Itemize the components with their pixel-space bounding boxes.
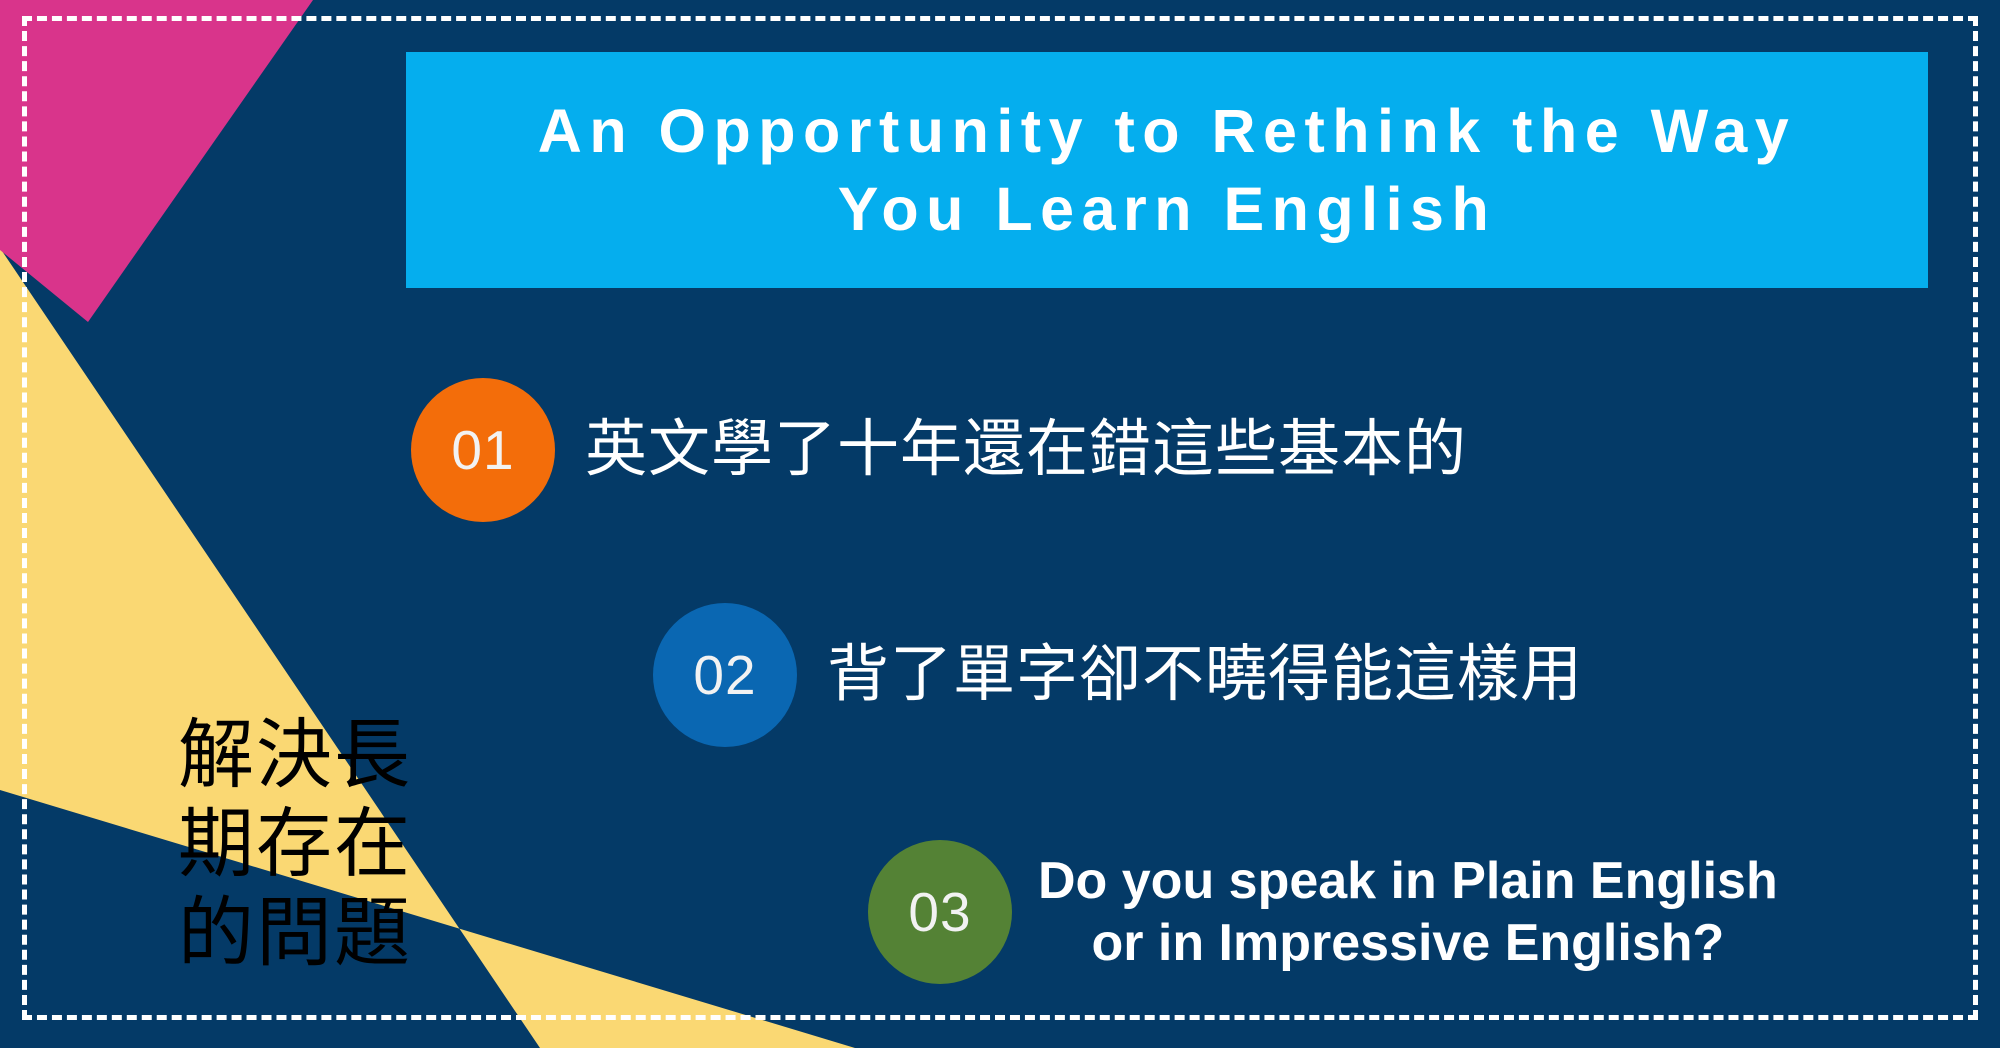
item-text-02: 背了單字卻不曉得能這樣用 — [827, 639, 1583, 710]
item-text-03: Do you speak in Plain English or in Impr… — [1038, 850, 1778, 975]
item-text-01: 英文學了十年還在錯這些基本的 — [585, 414, 1467, 485]
list-item[interactable]: 03 Do you speak in Plain English or in I… — [868, 840, 1778, 984]
slide-canvas: An Opportunity to Rethink the Way You Le… — [0, 0, 2000, 1048]
list-item[interactable]: 01 英文學了十年還在錯這些基本的 — [411, 378, 1467, 522]
title-banner: An Opportunity to Rethink the Way You Le… — [406, 52, 1928, 288]
page-title: An Opportunity to Rethink the Way You Le… — [538, 92, 1796, 248]
item-number-badge-03: 03 — [868, 840, 1012, 984]
item-number-badge-01: 01 — [411, 378, 555, 522]
left-callout-label: 解決長 期存在 的問題 — [178, 712, 438, 979]
list-item[interactable]: 02 背了單字卻不曉得能這樣用 — [653, 603, 1583, 747]
item-number-badge-02: 02 — [653, 603, 797, 747]
pink-corner-triangle — [0, 0, 313, 322]
